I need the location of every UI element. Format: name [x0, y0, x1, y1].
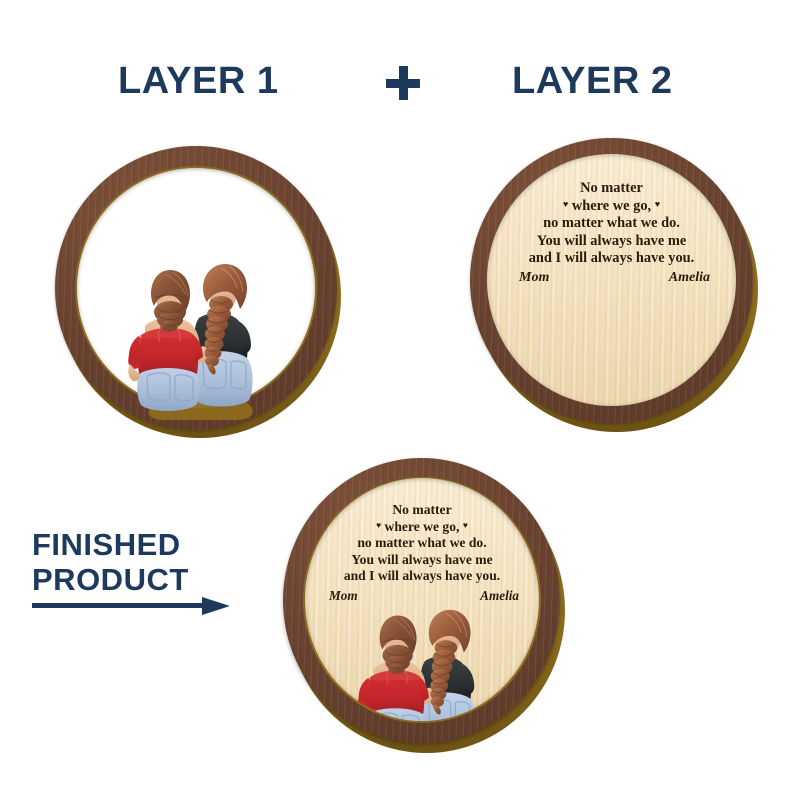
- figures-artwork-finished: [355, 596, 497, 721]
- heart-icon: ♥: [563, 199, 568, 209]
- heart-icon: ♥: [376, 520, 381, 530]
- layer-2-disc: No matter♥ where we go, ♥no matter what …: [470, 138, 762, 438]
- arrow-right-icon: [32, 597, 230, 615]
- engraved-quote-line: You will always have me: [487, 233, 736, 251]
- engraved-name-right: Amelia: [669, 270, 710, 286]
- engraved-name-left: Mom: [519, 270, 549, 286]
- figure-left: [128, 270, 203, 411]
- finished-product-title: FINISHED PRODUCT: [32, 528, 189, 597]
- layer-2-title: LAYER 2: [512, 62, 673, 100]
- finished-engraved-face: No matter♥ where we go, ♥no matter what …: [305, 478, 539, 721]
- engraved-quote-line: ♥ where we go, ♥: [487, 198, 736, 216]
- engraved-quote-line: No matter: [487, 180, 736, 198]
- finished-product-title-line-1: FINISHED: [32, 528, 189, 563]
- engraved-quote-text: where we go,: [381, 519, 463, 534]
- layer-1-disc: [55, 146, 345, 438]
- finished-wood-frame: No matter♥ where we go, ♥no matter what …: [283, 458, 560, 743]
- arrow-shaft: [32, 603, 208, 608]
- engraved-quote-line: ♥ where we go, ♥: [305, 519, 539, 536]
- engraved-quote-finished: No matter♥ where we go, ♥no matter what …: [305, 502, 539, 585]
- layer-2-engraved-face: No matter♥ where we go, ♥no matter what …: [487, 154, 736, 406]
- layer-2-wood-frame: No matter♥ where we go, ♥no matter what …: [470, 138, 753, 423]
- engraved-quote-line: No matter: [305, 502, 539, 519]
- figure-left: [358, 616, 429, 721]
- engraved-name-left: Mom: [329, 588, 358, 604]
- heart-icon: ♥: [463, 520, 468, 530]
- engraved-quote-line: and I will always have you.: [487, 250, 736, 268]
- layer-1-title: LAYER 1: [118, 62, 279, 100]
- product-mockup-canvas: LAYER 1 LAYER 2 FINISHED PRODUCT: [0, 0, 800, 800]
- engraved-quote-line: You will always have me: [305, 552, 539, 569]
- engraved-quote-line: no matter what we do.: [305, 535, 539, 552]
- engraved-quote-line: no matter what we do.: [487, 215, 736, 233]
- engraved-quote-layer-2: No matter♥ where we go, ♥no matter what …: [487, 180, 736, 268]
- arrow-head: [202, 597, 230, 615]
- finished-product-disc: No matter♥ where we go, ♥no matter what …: [283, 458, 573, 763]
- plus-icon: [386, 66, 420, 100]
- engraved-names-layer-2: Mom Amelia: [487, 270, 736, 290]
- engraved-quote-line: and I will always have you.: [305, 568, 539, 585]
- figures-artwork-layer-1: [125, 250, 275, 422]
- engraved-quote-text: where we go,: [568, 198, 654, 214]
- finished-product-title-line-2: PRODUCT: [32, 563, 189, 598]
- heart-icon: ♥: [655, 199, 660, 209]
